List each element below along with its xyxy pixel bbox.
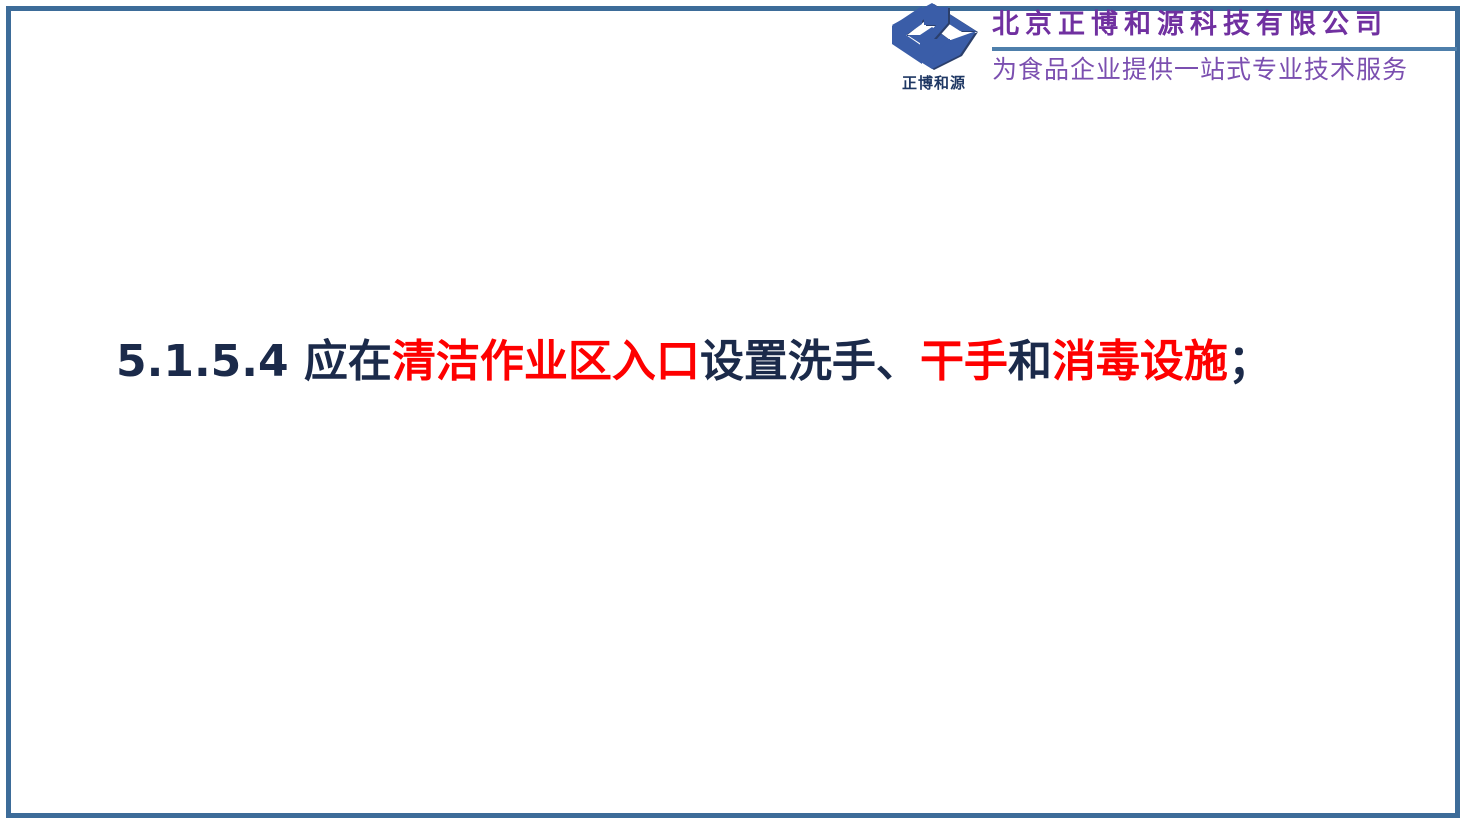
slide: 正博和源 北京正博和源科技有限公司 为食品企业提供一站式专业技术服务 5.1.5… [0,0,1466,824]
headline-segment: 清洁作业区入口 [392,336,700,387]
logo-caption: 正博和源 [884,72,984,93]
headline-segment: 消毒设施 [1052,336,1228,387]
letterhead: 正博和源 北京正博和源科技有限公司 为食品企业提供一站式专业技术服务 [884,0,1458,112]
slide-content: 5.1.5.4 应在清洁作业区入口设置洗手、干手和消毒设施； [0,0,1466,824]
logo-block: 正博和源 [884,0,984,108]
headline-segment: 和 [1008,336,1052,387]
headline-segment: ； [1228,336,1272,387]
clause-headline: 5.1.5.4 应在清洁作业区入口设置洗手、干手和消毒设施； [116,332,1376,392]
letterhead-divider [992,47,1457,51]
company-name: 北京正博和源科技有限公司 [992,8,1459,42]
headline-segment: 5.1.5.4 应在 [116,336,392,387]
company-tagline: 为食品企业提供一站式专业技术服务 [992,55,1459,85]
headline-segment: 干手 [920,336,1008,387]
headline-segment: 设置洗手、 [700,336,920,387]
letterhead-text: 北京正博和源科技有限公司 为食品企业提供一站式专业技术服务 [984,0,1459,85]
company-z-logo-icon [888,2,980,74]
